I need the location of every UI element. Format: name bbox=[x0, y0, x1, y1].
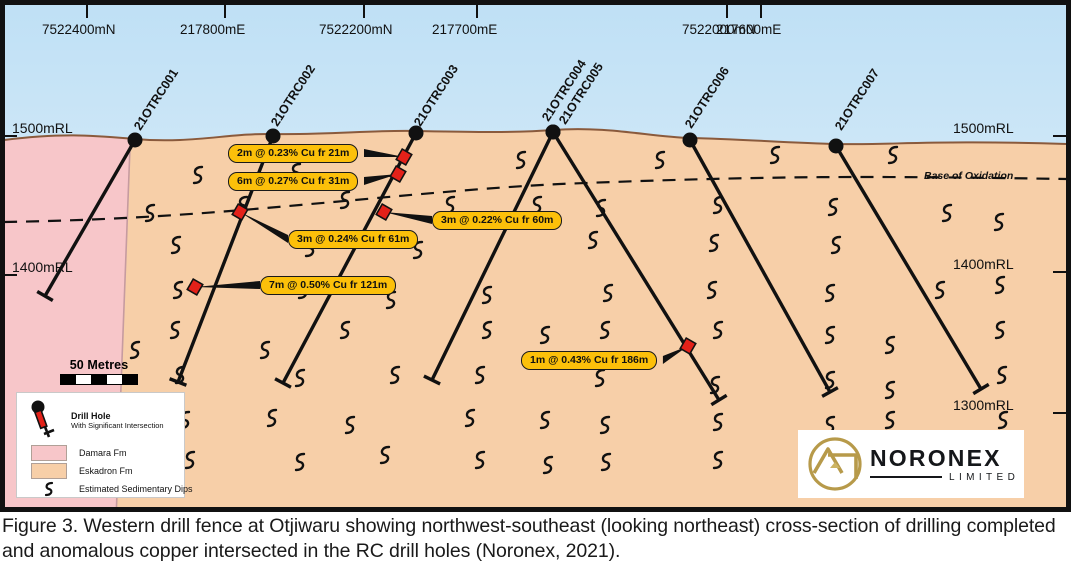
legend-item-damara: Damara Fm bbox=[31, 445, 127, 461]
legend-item-eskadron: Eskadron Fm bbox=[31, 463, 133, 479]
scale-bar-segment bbox=[107, 375, 122, 384]
logo-name: NORONEX bbox=[870, 446, 1019, 470]
rl-label-left: 1400mRL bbox=[12, 259, 73, 275]
logo-subtitle-row: LIMITED bbox=[870, 472, 1019, 483]
logo-subtitle: LIMITED bbox=[949, 472, 1019, 483]
grid-label: 217700mE bbox=[432, 22, 497, 37]
rl-label-right: 1300mRL bbox=[953, 397, 1014, 413]
scale-bar-segments bbox=[60, 374, 138, 385]
intersection-callout: 2m @ 0.23% Cu fr 21m bbox=[228, 144, 358, 163]
drillhole-collar bbox=[683, 133, 698, 148]
sedimentary-dip-icon bbox=[31, 481, 67, 497]
scale-bar-segment bbox=[91, 375, 106, 384]
intersection-callout: 3m @ 0.24% Cu fr 61m bbox=[288, 230, 418, 249]
rl-label-right: 1400mRL bbox=[953, 256, 1014, 272]
legend-panel: Drill Hole With Significant Intersection… bbox=[16, 392, 185, 498]
legend-label-eskadron: Eskadron Fm bbox=[79, 466, 133, 476]
noronex-logo: NORONEX LIMITED bbox=[798, 430, 1024, 498]
rl-label-left: 1500mRL bbox=[12, 120, 73, 136]
grid-label: 7522200mN bbox=[319, 22, 393, 37]
scale-bar: 50 Metres bbox=[60, 358, 138, 385]
figure-root: 7522400mN217800mE7522200mN217700mE752200… bbox=[0, 0, 1071, 579]
noronex-emblem-icon bbox=[806, 435, 864, 493]
intersection-callout: 7m @ 0.50% Cu fr 121m bbox=[260, 276, 396, 295]
legend-drillhole-subtitle: With Significant Intersection bbox=[71, 421, 164, 431]
figure-caption: Figure 3. Western drill fence at Otjiwar… bbox=[2, 514, 1068, 564]
drillhole-collar bbox=[266, 129, 281, 144]
grid-label: 7522400mN bbox=[42, 22, 116, 37]
drillhole-collar bbox=[128, 133, 143, 148]
scale-bar-segment bbox=[76, 375, 91, 384]
drillhole-collar bbox=[829, 139, 844, 154]
scale-bar-segment bbox=[122, 375, 137, 384]
rl-label-right: 1500mRL bbox=[953, 120, 1014, 136]
grid-label: 217600mE bbox=[716, 22, 781, 37]
legend-swatch-eskadron bbox=[31, 463, 67, 479]
logo-rule bbox=[870, 476, 942, 478]
drillhole-collar bbox=[546, 125, 561, 140]
base-of-oxidation-label: Base of Oxidation bbox=[924, 170, 1013, 182]
intersection-callout: 1m @ 0.43% Cu fr 186m bbox=[521, 351, 657, 370]
legend-label-dips: Estimated Sedimentary Dips bbox=[79, 484, 193, 494]
legend-swatch-damara bbox=[31, 445, 67, 461]
scale-bar-segment bbox=[61, 375, 76, 384]
legend-drillhole-title: Drill Hole bbox=[71, 411, 164, 421]
scale-bar-label: 50 Metres bbox=[60, 358, 138, 372]
legend-drillhole-row: Drill Hole With Significant Intersection bbox=[23, 399, 164, 443]
legend-label-damara: Damara Fm bbox=[79, 448, 127, 458]
intersection-callout: 3m @ 0.22% Cu fr 60m bbox=[432, 211, 562, 230]
intersection-callout: 6m @ 0.27% Cu fr 31m bbox=[228, 172, 358, 191]
legend-item-dips: Estimated Sedimentary Dips bbox=[31, 481, 193, 497]
grid-label: 217800mE bbox=[180, 22, 245, 37]
drill-hole-icon bbox=[23, 399, 67, 443]
cross-section-figure: 7522400mN217800mE7522200mN217700mE752200… bbox=[0, 0, 1071, 512]
